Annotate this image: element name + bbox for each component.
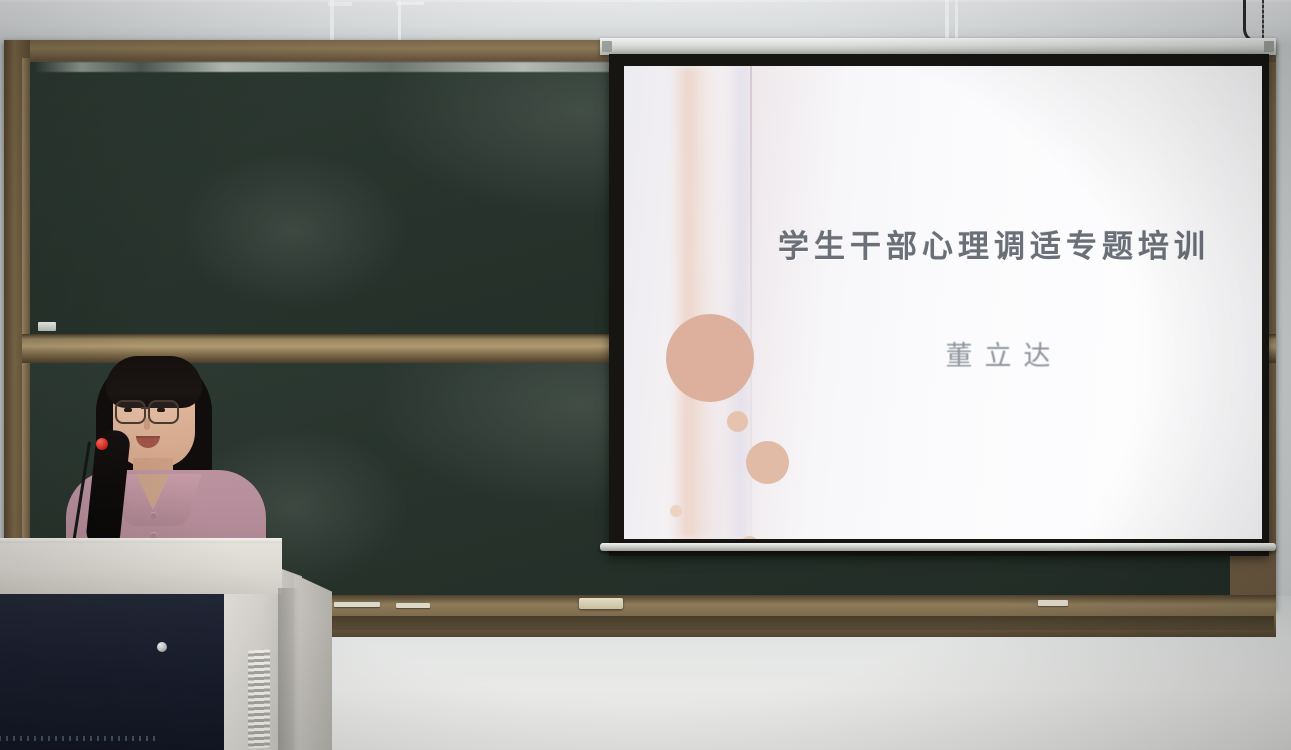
eyeglasses-icon	[115, 400, 146, 424]
chalk-stick-icon	[1038, 600, 1068, 606]
roller-end-cap-icon	[602, 41, 612, 52]
eyeglasses-icon	[148, 400, 179, 424]
eyeglasses-bridge-icon	[141, 407, 149, 409]
eye-left	[124, 408, 132, 412]
cardigan-button-icon	[150, 512, 157, 519]
slide-large-circle-icon	[666, 314, 754, 402]
podium-control-knob-icon[interactable]	[157, 642, 167, 652]
podium-front-panel	[0, 594, 224, 750]
podium-top-edge	[0, 538, 282, 543]
nose	[144, 418, 150, 430]
projection-screen-surface[interactable]: 学生干部心理调适专题培训 董立达	[624, 66, 1262, 539]
podium-worktop	[0, 538, 282, 594]
ventilation-grille-icon	[248, 649, 270, 748]
wall-seam	[0, 0, 1291, 2]
slide-warm-stripe	[672, 66, 716, 539]
roller-end-cap-icon	[1264, 41, 1274, 52]
projector-screen-weight-bar[interactable]	[600, 543, 1276, 551]
slide-title: 学生干部心理调适专题培训	[754, 221, 1234, 266]
classroom-scene: 学生干部心理调适专题培训 董立达	[0, 0, 1291, 750]
conduit-bracket-icon	[396, 2, 424, 5]
lectern-podium	[0, 538, 340, 750]
podium-perforated-row	[0, 736, 160, 741]
hanging-chain-icon	[1262, 0, 1264, 42]
slide-small-circle-upper-icon	[727, 411, 748, 432]
power-cable-icon	[1243, 0, 1268, 43]
board-clip-icon	[38, 322, 56, 331]
podium-shadow	[278, 588, 300, 750]
conduit-pipe-icon	[955, 0, 958, 40]
chalk-stick-icon	[396, 603, 430, 608]
slide-tiny-circle-icon	[670, 505, 682, 517]
slide-presenter-name: 董立达	[774, 334, 1234, 373]
conduit-pipe-icon	[398, 0, 401, 40]
conduit-pipe-icon	[330, 0, 334, 40]
slide-medium-circle-icon	[746, 441, 789, 484]
chalk-stick-icon	[334, 602, 380, 607]
microphone-head-icon	[96, 438, 108, 450]
board-eraser-icon	[579, 598, 623, 609]
eye-right	[157, 408, 165, 412]
chalkboard-frame-bevel	[22, 58, 30, 578]
conduit-bracket-icon	[328, 2, 352, 6]
projection-screen-border: 学生干部心理调适专题培训 董立达	[609, 54, 1269, 556]
projector-screen-roller	[600, 38, 1276, 55]
